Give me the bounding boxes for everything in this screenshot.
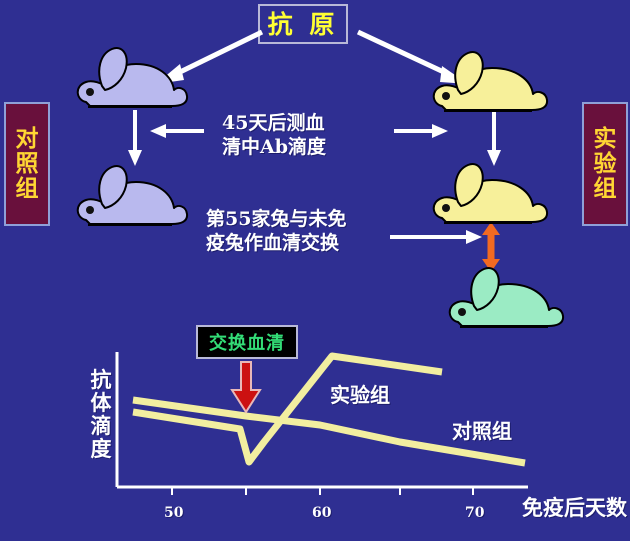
step2-line2: 疫兔作血清交换: [206, 232, 346, 256]
x-tick-label: 60: [312, 505, 331, 521]
side-label-char: 组: [594, 177, 617, 201]
side-label-experiment-group: 实 验 组: [582, 102, 628, 226]
page-title: 抗 原: [258, 4, 348, 44]
y-axis-char: 滴: [88, 414, 114, 437]
step2-annotation: 第55家兔与未免 疫兔作血清交换: [206, 208, 346, 256]
arrow-right-icon: [392, 122, 450, 140]
exchange-serum-badge: 交换血清: [196, 325, 298, 359]
side-label-char: 照: [16, 152, 39, 176]
arrow-left-icon: [148, 122, 206, 140]
side-label-control-group: 对 照 组: [4, 102, 50, 226]
series-label-experiment: 实验组: [330, 379, 390, 408]
chart-y-axis-title: 抗 体 滴 度: [88, 368, 114, 460]
chart-x-axis-title: 免疫后天数: [522, 492, 627, 522]
step2-line1: 第55家兔与未免: [206, 208, 346, 232]
x-tick-label: 50: [164, 505, 183, 521]
x-tick-label: 70: [465, 505, 484, 521]
step1-line2: 清中Ab滴度: [222, 136, 326, 160]
rabbit-experiment-mid: [428, 158, 554, 230]
side-label-char: 组: [16, 177, 39, 201]
side-label-char: 实: [594, 127, 617, 151]
slide-canvas: 抗 原 对 照 组 实 验 组: [0, 0, 630, 541]
rabbit-exchange: [444, 262, 570, 334]
step1-line1: 45天后测血: [222, 112, 326, 136]
y-axis-char: 度: [88, 437, 114, 460]
exchange-serum-text: 交换血清: [209, 329, 285, 355]
arrow-down-red-icon: [232, 362, 260, 412]
rabbit-control-bottom: [72, 160, 192, 230]
y-axis-char: 体: [88, 391, 114, 414]
series-label-control: 对照组: [452, 415, 512, 444]
rabbit-experiment-top: [428, 46, 554, 118]
page-title-text: 抗 原: [268, 12, 339, 37]
arrow-right-icon: [388, 228, 484, 246]
side-label-char: 对: [16, 127, 39, 151]
side-label-char: 验: [594, 152, 617, 176]
step1-annotation: 45天后测血 清中Ab滴度: [222, 112, 326, 160]
y-axis-char: 抗: [88, 368, 114, 391]
rabbit-control-top: [72, 42, 192, 112]
